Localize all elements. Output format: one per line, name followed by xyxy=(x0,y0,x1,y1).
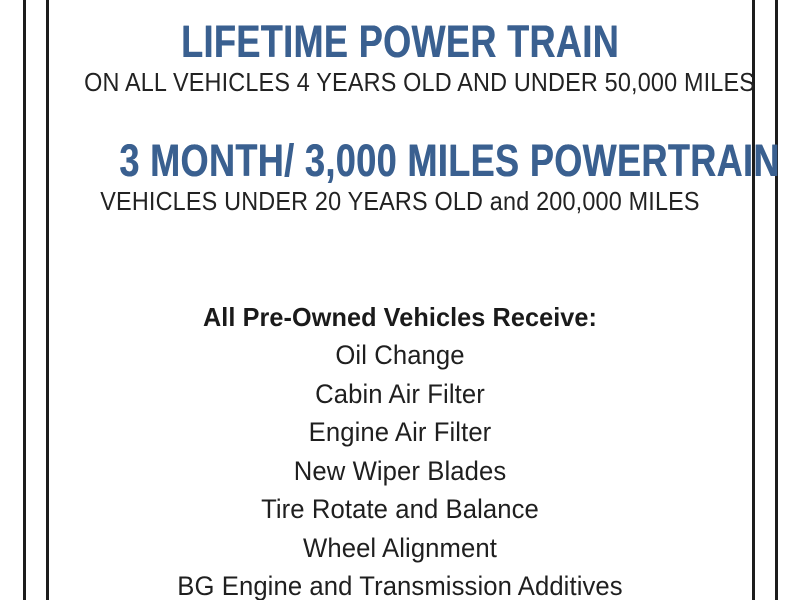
services-block: All Pre-Owned Vehicles Receive: Oil Chan… xyxy=(49,298,751,600)
frame-rule-right-outer xyxy=(775,0,778,600)
services-heading: All Pre-Owned Vehicles Receive: xyxy=(60,298,741,336)
list-item: Engine Air Filter xyxy=(67,413,734,452)
lifetime-warranty-block: LIFETIME POWER TRAIN ON ALL VEHICLES 4 Y… xyxy=(49,19,751,97)
three-month-warranty-subline: VEHICLES UNDER 20 YEARS OLD and 200,000 … xyxy=(84,186,716,216)
list-item: BG Engine and Transmission Additives xyxy=(67,567,734,600)
list-item: Tire Rotate and Balance xyxy=(67,490,734,529)
three-month-warranty-block: 3 MONTH/ 3,000 MILES POWERTRAIN VEHICLES… xyxy=(49,138,751,216)
list-item: Wheel Alignment xyxy=(67,529,734,568)
warranty-poster: LIFETIME POWER TRAIN ON ALL VEHICLES 4 Y… xyxy=(0,0,800,600)
poster-content: LIFETIME POWER TRAIN ON ALL VEHICLES 4 Y… xyxy=(49,0,751,600)
list-item: New Wiper Blades xyxy=(67,452,734,491)
three-month-warranty-headline: 3 MONTH/ 3,000 MILES POWERTRAIN xyxy=(119,138,681,184)
list-item: Oil Change xyxy=(67,336,734,375)
lifetime-warranty-subline: ON ALL VEHICLES 4 YEARS OLD AND UNDER 50… xyxy=(84,67,716,97)
service-list: Oil Change Cabin Air Filter Engine Air F… xyxy=(49,336,751,600)
frame-rule-left-outer xyxy=(23,0,26,600)
lifetime-warranty-headline: LIFETIME POWER TRAIN xyxy=(119,19,681,65)
list-item: Cabin Air Filter xyxy=(67,375,734,414)
